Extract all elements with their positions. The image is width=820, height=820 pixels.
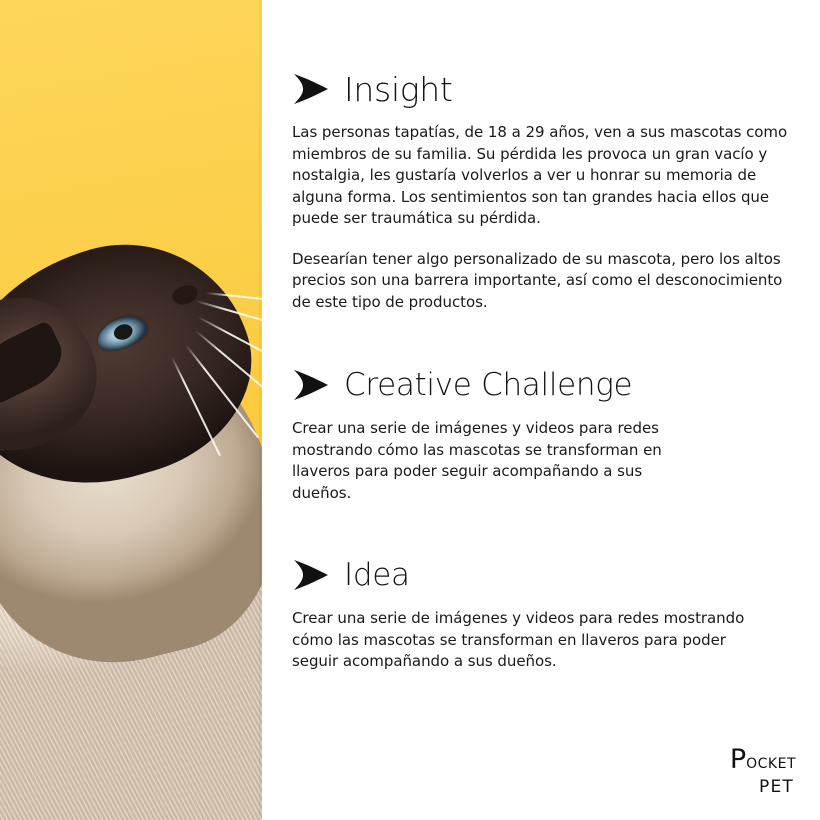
pocket-pet-logo: Pocket PET <box>730 746 796 796</box>
section-creative-challenge: Creative Challenge Crear una serie de im… <box>292 368 804 504</box>
content-column: Insight Las personas tapatías, de 18 a 2… <box>262 0 820 820</box>
section-creative-challenge-body: Crear una serie de imágenes y videos par… <box>292 418 662 504</box>
paragraph: Crear una serie de imágenes y videos par… <box>292 608 772 673</box>
arrowhead-chevron-icon <box>292 368 330 402</box>
logo-wordmark-pet: PET <box>730 779 794 796</box>
section-creative-challenge-heading-row: Creative Challenge <box>292 368 804 402</box>
poster-canvas: Insight Las personas tapatías, de 18 a 2… <box>0 0 820 820</box>
section-idea-heading-row: Idea <box>292 558 804 592</box>
paragraph: Crear una serie de imágenes y videos par… <box>292 418 662 504</box>
arrowhead-chevron-icon <box>292 72 330 106</box>
section-creative-challenge-title: Creative Challenge <box>344 370 632 401</box>
section-insight: Insight Las personas tapatías, de 18 a 2… <box>292 72 804 313</box>
cat-photo <box>0 0 262 820</box>
section-insight-body: Las personas tapatías, de 18 a 29 años, … <box>292 122 804 313</box>
section-idea-title: Idea <box>344 560 410 591</box>
logo-rest: ocket <box>746 749 796 773</box>
paragraph: Desearían tener algo personalizado de su… <box>292 249 804 314</box>
paragraph: Las personas tapatías, de 18 a 29 años, … <box>292 122 804 230</box>
arrowhead-chevron-icon <box>292 558 330 592</box>
section-insight-title: Insight <box>344 73 453 106</box>
logo-capital-p: P <box>730 744 746 775</box>
section-idea-body: Crear una serie de imágenes y videos par… <box>292 608 772 673</box>
section-insight-heading-row: Insight <box>292 72 804 106</box>
section-idea: Idea Crear una serie de imágenes y video… <box>292 558 804 673</box>
logo-wordmark-pocket: Pocket <box>730 746 796 773</box>
